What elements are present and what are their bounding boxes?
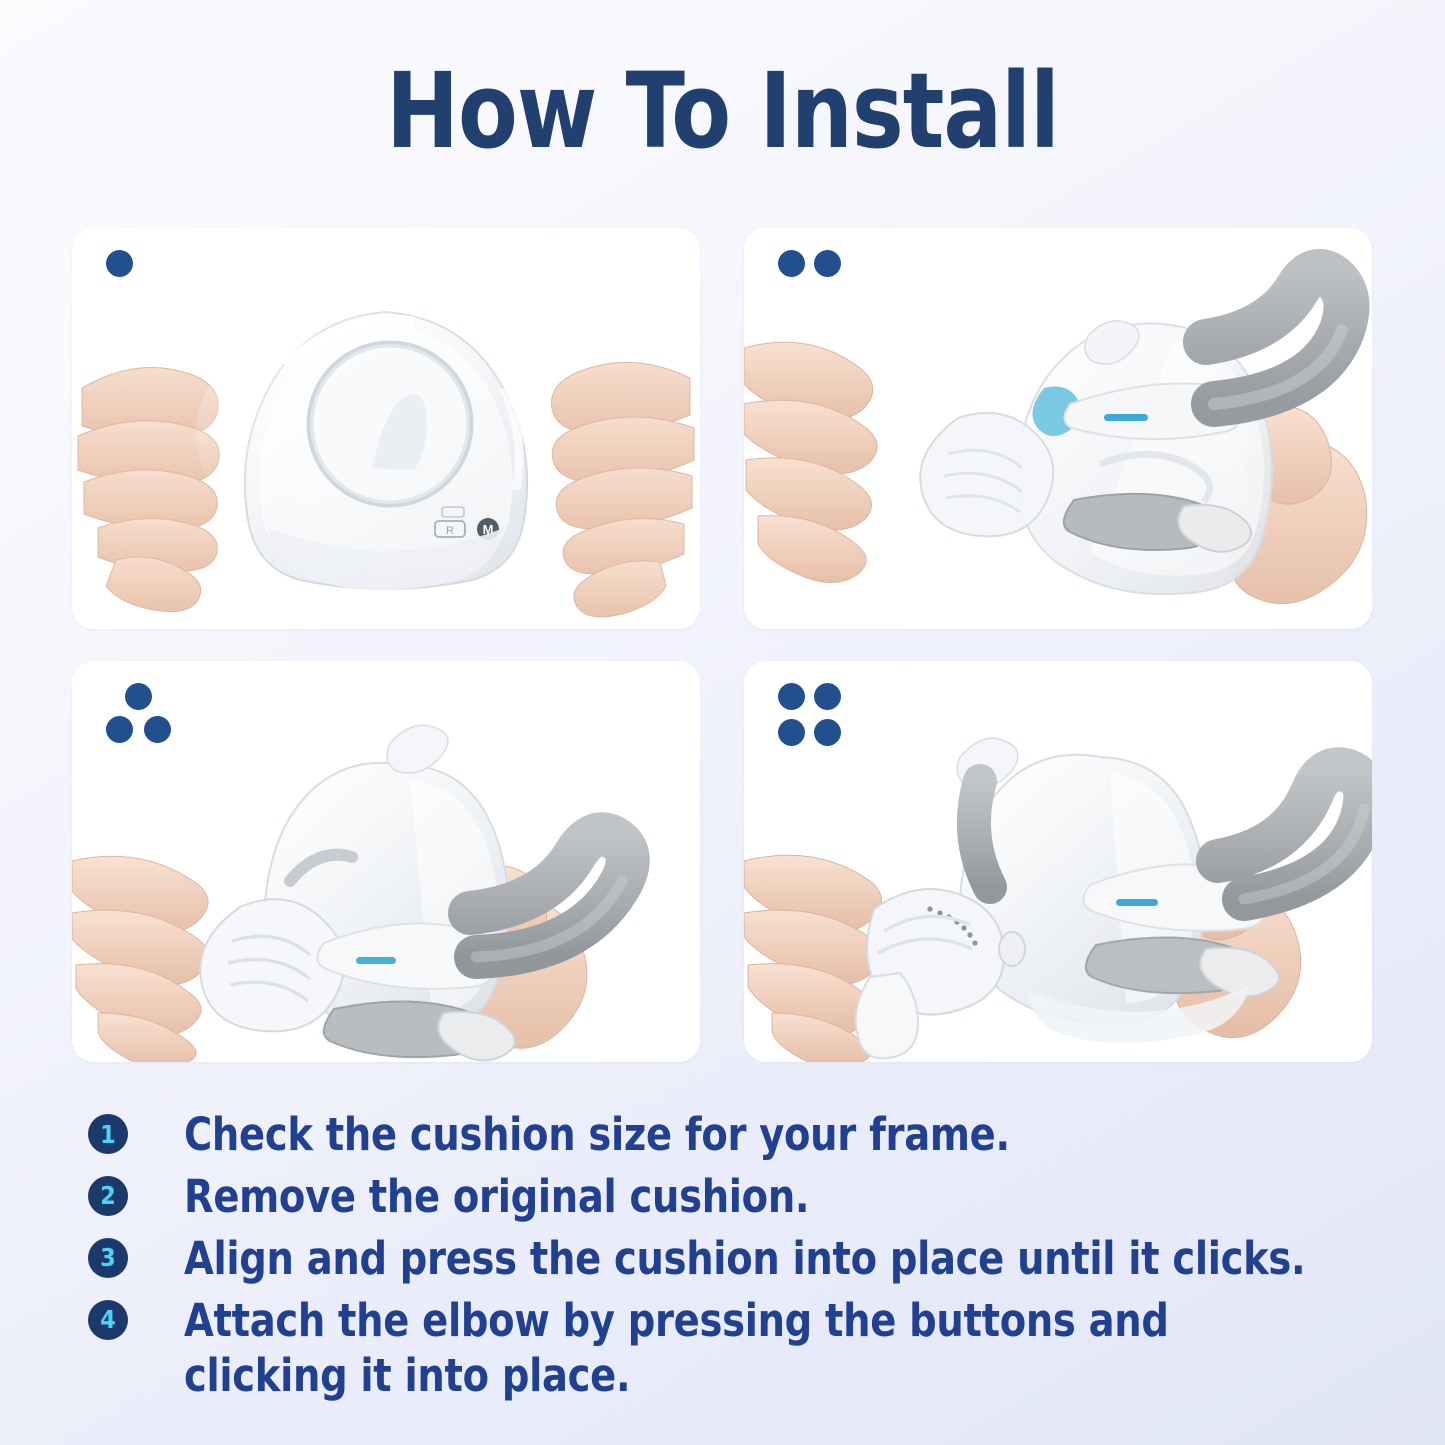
step-panel-1: R M <box>72 228 700 629</box>
step-dot <box>814 719 841 746</box>
instruction-text: Attach the elbow by pressing the buttons… <box>184 1294 1328 1404</box>
step-dot <box>778 250 805 277</box>
instruction-text: Check the cushion size for your frame. <box>184 1108 1010 1163</box>
instruction-item-1: 1 Check the cushion size for your frame. <box>88 1108 1388 1163</box>
instruction-list: 1 Check the cushion size for your frame.… <box>88 1108 1388 1410</box>
instruction-item-3: 3 Align and press the cushion into place… <box>88 1232 1388 1287</box>
svg-text:R: R <box>446 525 454 537</box>
step-number-badge: 3 <box>88 1238 128 1278</box>
instruction-item-2: 2 Remove the original cushion. <box>88 1170 1388 1225</box>
step-dot <box>106 716 133 743</box>
step-dot <box>106 250 133 277</box>
step-dot <box>814 250 841 277</box>
step-number-badge: 1 <box>88 1114 128 1154</box>
panel-1-photo: R M <box>72 228 700 629</box>
instruction-text: Align and press the cushion into place u… <box>184 1232 1305 1287</box>
step-dot <box>778 683 805 710</box>
step-dot <box>144 716 171 743</box>
step-dot <box>814 683 841 710</box>
panel-grid: R M <box>72 228 1372 1062</box>
instruction-text: Remove the original cushion. <box>184 1170 809 1225</box>
step-panel-2 <box>744 228 1372 629</box>
instruction-item-4: 4 Attach the elbow by pressing the butto… <box>88 1294 1388 1404</box>
panel-4-photo <box>744 661 1372 1062</box>
page-title: How To Install <box>51 56 1395 166</box>
infographic-page: How To Install <box>0 0 1445 1445</box>
step-panel-3 <box>72 661 700 1062</box>
step-number-badge: 4 <box>88 1300 128 1340</box>
panel-2-photo <box>744 228 1372 629</box>
step-dot <box>125 683 152 710</box>
step-number-badge: 2 <box>88 1176 128 1216</box>
step-dot <box>778 719 805 746</box>
step-panel-4 <box>744 661 1372 1062</box>
